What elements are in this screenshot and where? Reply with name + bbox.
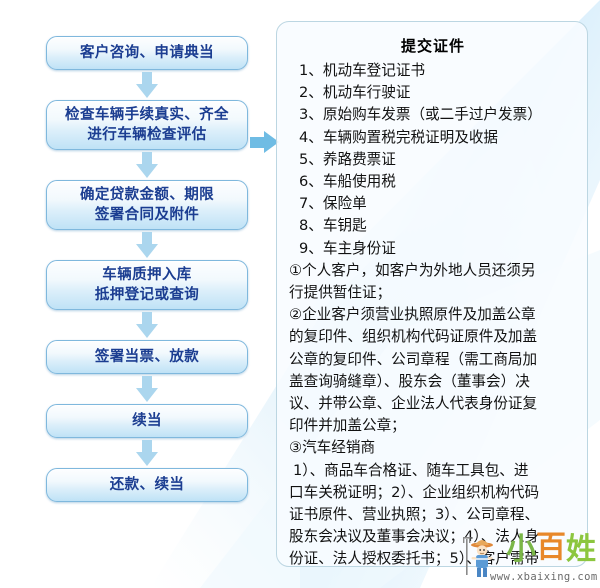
flow-node-2[interactable]: 检查车辆手续真实、齐全 进行车辆检查评估 [46, 100, 248, 150]
doc-line: 4、车辆购置税完税证明及收据 [289, 127, 577, 149]
doc-line: 盖查询骑缝章）、股东会（董事会）决 [289, 371, 577, 393]
site-watermark: 小 百 姓 www.xbaixing.com [462, 533, 598, 585]
arrow-down-icon [136, 312, 158, 338]
flow-node-4-line-2: 抵押登记或查询 [95, 285, 199, 305]
doc-line: 2、机动车行驶证 [289, 82, 577, 104]
doc-line: 1）、商品车合格证、随车工具包、进 [289, 460, 577, 482]
doc-line: 证书原件、营业执照；3）、公司章程、 [289, 504, 577, 526]
doc-line: ③汽车经销商 [289, 437, 577, 459]
doc-line: 6、车船使用税 [289, 171, 577, 193]
doc-line: 3、原始购车发票（或二手过户发票） [289, 104, 577, 126]
doc-line: 7、保险单 [289, 193, 577, 215]
flow-node-3-line-1: 确定贷款金额、期限 [80, 185, 214, 205]
doc-line: 9、车主身份证 [289, 238, 577, 260]
arrow-down-icon [136, 232, 158, 258]
flow-node-5[interactable]: 签署当票、放款 [46, 340, 248, 374]
doc-line: 印件并加盖公章； [289, 415, 577, 437]
doc-line: 议、并带公章、企业法人代表身份证复 [289, 393, 577, 415]
arrow-down-icon [136, 440, 158, 466]
flow-node-7-line-1: 还款、续当 [110, 475, 185, 495]
flow-node-1[interactable]: 客户咨询、申请典当 [46, 36, 248, 70]
doc-line: 1、机动车登记证书 [289, 60, 577, 82]
arrow-down-icon [136, 72, 158, 98]
doc-line: 5、养路费票证 [289, 149, 577, 171]
watermark-url: www.xbaixing.com [490, 571, 598, 583]
flowchart-canvas: 客户咨询、申请典当 检查车辆手续真实、齐全 进行车辆检查评估 确定贷款金额、期限… [0, 0, 600, 588]
flow-node-3[interactable]: 确定贷款金额、期限 签署合同及附件 [46, 180, 248, 230]
documents-panel-title: 提交证件 [289, 35, 577, 56]
documents-panel: 提交证件 1、机动车登记证书 2、机动车行驶证 3、原始购车发票（或二手过户发票… [276, 21, 588, 567]
connector-2-3 [46, 150, 248, 180]
connector-3-4 [46, 230, 248, 260]
flow-node-6-line-1: 续当 [132, 411, 162, 431]
flow-node-4-line-1: 车辆质押入库 [102, 265, 191, 285]
connector-4-5 [46, 310, 248, 340]
doc-line: 行提供暂住证； [289, 282, 577, 304]
arrow-down-icon [136, 376, 158, 402]
flow-node-5-line-1: 签署当票、放款 [95, 347, 199, 367]
arrow-down-icon [136, 152, 158, 178]
flow-node-3-line-2: 签署合同及附件 [95, 205, 199, 225]
doc-line: 口车关税证明；2）、企业组织机构代码 [289, 482, 577, 504]
doc-line: 8、车钥匙 [289, 215, 577, 237]
flow-node-6[interactable]: 续当 [46, 404, 248, 438]
connector-1-2 [46, 70, 248, 100]
doc-line: 的复印件、组织机构代码证原件及加盖 [289, 326, 577, 348]
doc-line: ①个人客户，如客户为外地人员还须另 [289, 260, 577, 282]
flow-node-1-line-1: 客户咨询、申请典当 [80, 43, 214, 63]
flow-node-4[interactable]: 车辆质押入库 抵押登记或查询 [46, 260, 248, 310]
connector-6-7 [46, 438, 248, 468]
watermark-char-2: 百 [536, 533, 566, 563]
flow-node-7[interactable]: 还款、续当 [46, 468, 248, 502]
watermark-char-3: 姓 [566, 535, 596, 565]
doc-line: 公章的复印件、公司章程（需工商局加 [289, 349, 577, 371]
watermark-char-1: 小 [506, 535, 536, 565]
doc-line: ②企业客户须营业执照原件及加盖公章 [289, 304, 577, 326]
connector-5-6 [46, 374, 248, 404]
process-flow-column: 客户咨询、申请典当 检查车辆手续真实、齐全 进行车辆检查评估 确定贷款金额、期限… [46, 36, 248, 502]
flow-node-2-line-2: 进行车辆检查评估 [87, 125, 206, 145]
flow-node-2-line-1: 检查车辆手续真实、齐全 [65, 105, 229, 125]
